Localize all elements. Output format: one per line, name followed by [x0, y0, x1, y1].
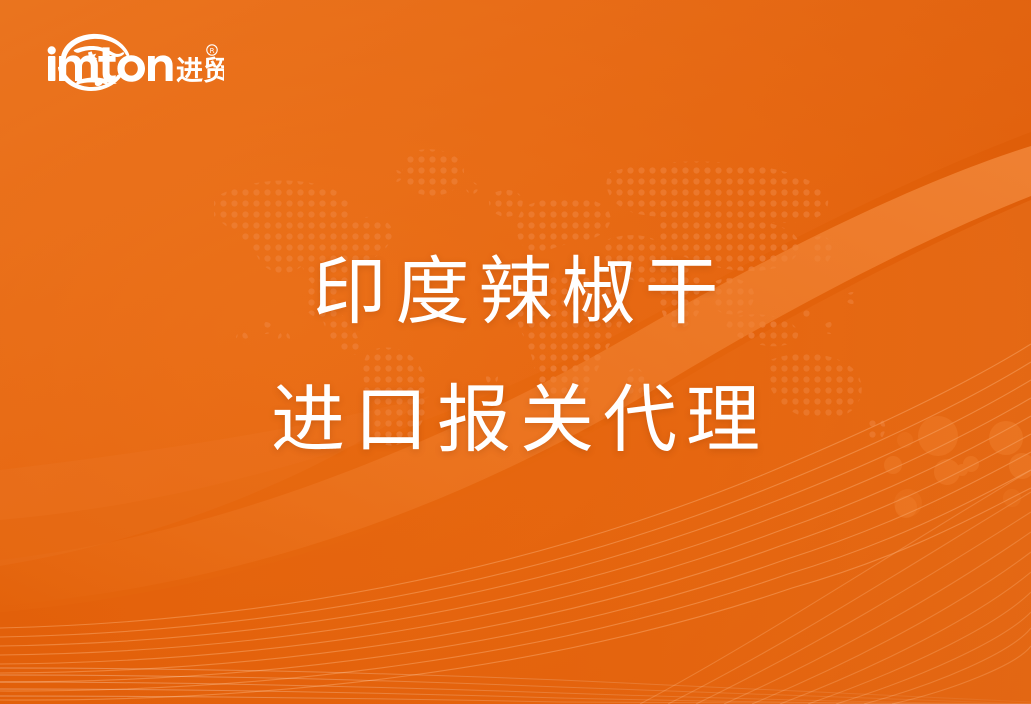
- imton-logo[interactable]: 进贸通 R: [44, 30, 224, 96]
- headline-line-1: 印度辣椒干: [0, 228, 1031, 356]
- svg-text:R: R: [210, 47, 215, 55]
- svg-text:进贸通: 进贸通: [176, 56, 224, 87]
- promo-banner: 进贸通 R 印度辣椒干 进口报关代理: [0, 0, 1031, 704]
- headline-line-2: 进口报关代理: [0, 356, 1031, 484]
- headline-block: 印度辣椒干 进口报关代理: [0, 228, 1031, 484]
